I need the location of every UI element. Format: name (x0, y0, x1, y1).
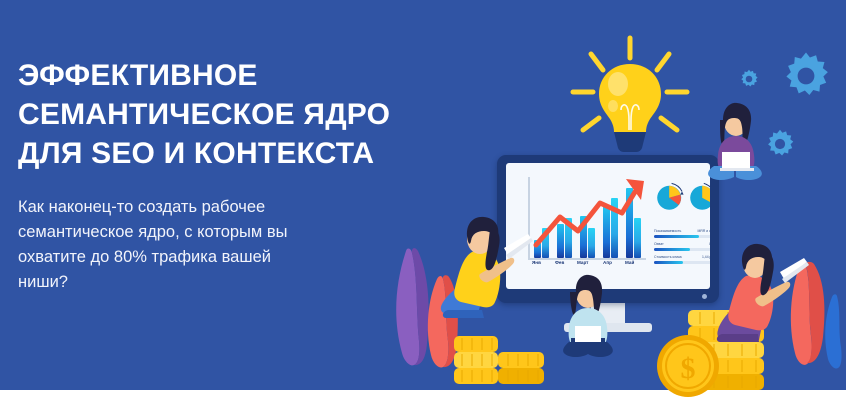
x-tick-label: Май (625, 260, 634, 265)
metric-row: Показываемость MRR и срок (654, 229, 710, 240)
dollar-coin-icon: $ (655, 333, 721, 399)
metric-label: Стоимость клика (654, 255, 682, 259)
growth-arrow-icon (530, 173, 650, 261)
metric-label: Показываемость (654, 229, 681, 233)
subheadline-line-4: ниши? (18, 270, 378, 295)
headline-line-1: ЭФФЕКТИВНОЕ (18, 56, 418, 95)
subheadline-line-2: семантическое ядро, с которым вы (18, 220, 378, 245)
metric-fill (654, 235, 699, 238)
metric-fill (654, 248, 690, 251)
page-title: ЭФФЕКТИВНОЕ СЕМАНТИЧЕСКОЕ ЯДРО ДЛЯ SEO И… (18, 56, 418, 173)
promo-banner: Янв Фев Март Апр Май (0, 0, 846, 412)
person-purple-top (690, 100, 782, 186)
x-tick-label: Март (577, 260, 588, 265)
metric-label: Охват (654, 242, 664, 246)
subheadline-line-3: охватите до 80% трафика вашей (18, 245, 378, 270)
headline-line-3: ДЛЯ SEO И КОНТЕКСТА (18, 134, 418, 173)
metric-fill (654, 261, 683, 264)
lightbulb-icon (565, 30, 695, 165)
metric-track (654, 235, 710, 238)
subheadline: Как наконец-то создать рабочее семантиче… (18, 195, 378, 295)
person-yellow-shirt (420, 212, 538, 336)
gear-small-icon (738, 68, 760, 90)
pie-chart-left (654, 181, 686, 213)
gear-large-icon (778, 48, 834, 104)
x-tick-label: Апр (603, 260, 612, 265)
person-lightblue-top (545, 272, 631, 364)
svg-text:$: $ (681, 352, 696, 385)
x-tick-label: Фев (555, 260, 564, 265)
chart-x-labels: Янв Фев Март Апр Май (528, 260, 648, 272)
subheadline-line-1: Как наконец-то создать рабочее (18, 195, 378, 220)
text-block: ЭФФЕКТИВНОЕ СЕМАНТИЧЕСКОЕ ЯДРО ДЛЯ SEO И… (18, 56, 418, 295)
headline-line-2: СЕМАНТИЧЕСКОЕ ЯДРО (18, 95, 418, 134)
metric-value: MRR и срок (698, 229, 710, 233)
